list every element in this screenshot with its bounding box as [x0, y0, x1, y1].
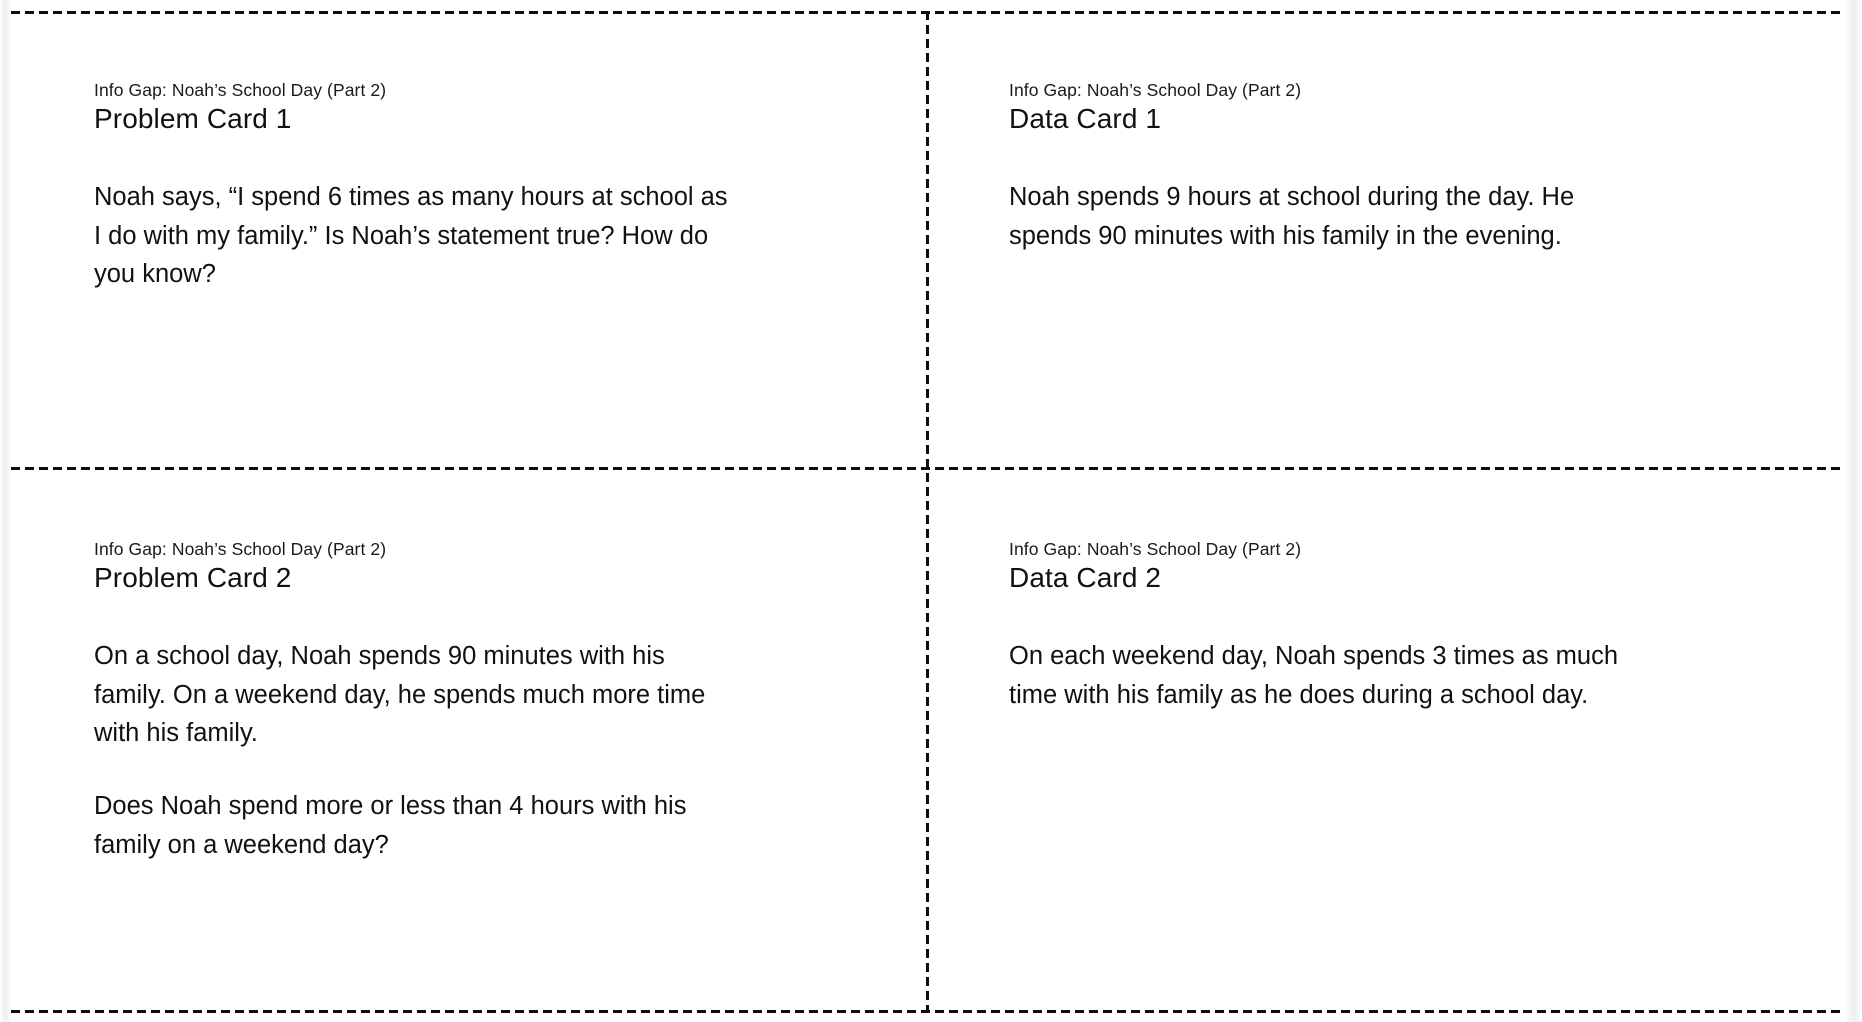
card-data-card-2: Info Gap: Noah’s School Day (Part 2) Dat…: [929, 470, 1845, 1013]
card-body: Noah says, “I spend 6 times as many hour…: [94, 178, 886, 294]
card-sheet: Info Gap: Noah’s School Day (Part 2) Pro…: [11, 11, 1845, 1013]
card-paragraph: On a school day, Noah spends 90 minutes …: [94, 637, 734, 753]
card-title: Data Card 2: [1009, 561, 1805, 595]
page-edge-shadow-left: [0, 0, 11, 1022]
card-paragraph: On each weekend day, Noah spends 3 times…: [1009, 637, 1649, 715]
card-eyebrow: Info Gap: Noah’s School Day (Part 2): [1009, 538, 1805, 560]
card-data-card-1: Info Gap: Noah’s School Day (Part 2) Dat…: [929, 11, 1845, 467]
card-body: On a school day, Noah spends 90 minutes …: [94, 637, 886, 865]
card-eyebrow: Info Gap: Noah’s School Day (Part 2): [94, 538, 886, 560]
card-title: Data Card 1: [1009, 102, 1805, 136]
card-eyebrow: Info Gap: Noah’s School Day (Part 2): [94, 79, 886, 101]
card-paragraph: Noah says, “I spend 6 times as many hour…: [94, 178, 734, 294]
card-problem-card-2: Info Gap: Noah’s School Day (Part 2) Pro…: [11, 470, 926, 1013]
card-paragraph: Does Noah spend more or less than 4 hour…: [94, 787, 734, 865]
card-body: On each weekend day, Noah spends 3 times…: [1009, 637, 1805, 715]
page-edge-shadow-right: [1845, 0, 1862, 1022]
card-problem-card-1: Info Gap: Noah’s School Day (Part 2) Pro…: [11, 11, 926, 467]
card-body: Noah spends 9 hours at school during the…: [1009, 178, 1805, 256]
card-title: Problem Card 1: [94, 102, 886, 136]
card-eyebrow: Info Gap: Noah’s School Day (Part 2): [1009, 79, 1805, 101]
card-title: Problem Card 2: [94, 561, 886, 595]
cut-line-vertical-center: [926, 11, 929, 1013]
card-paragraph: Noah spends 9 hours at school during the…: [1009, 178, 1649, 256]
